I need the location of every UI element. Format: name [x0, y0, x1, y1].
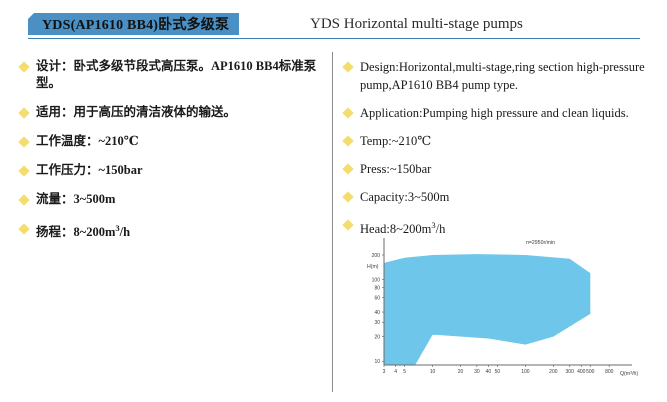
list-item-label: 流量：3~500m: [36, 191, 325, 208]
x-tick-label: 50: [495, 369, 501, 375]
x-tick-label: 3: [383, 369, 386, 375]
y-tick-label: 200: [372, 253, 381, 259]
list-item: 扬程：8~200m3/h: [20, 220, 325, 241]
diamond-bullet-icon: [342, 135, 353, 146]
list-item-label: Design:Horizontal,multi-stage,ring secti…: [360, 58, 654, 94]
diamond-bullet-icon: [18, 61, 29, 72]
list-item-label: 扬程：8~200m3/h: [36, 220, 325, 241]
list-item-label: Application:Pumping high pressure and cl…: [360, 104, 654, 122]
page-header: YDS(AP1610 BB4)卧式多级泵 YDS Horizontal mult…: [0, 0, 667, 46]
x-tick-label: 800: [605, 369, 614, 375]
list-item-label: Capacity:3~500m: [360, 188, 654, 206]
x-tick-label: 400: [577, 369, 586, 375]
diamond-bullet-icon: [342, 191, 353, 202]
x-tick-label: 200: [549, 369, 558, 375]
x-tick-label: 5: [403, 369, 406, 375]
specs-list-chinese: 设计：卧式多级节段式高压泵。AP1610 BB4标准泵型。 适用：用于高压的清洁…: [20, 58, 325, 253]
pump-performance-chart: 3451020304050100200300400500800 10203040…: [358, 232, 658, 392]
diamond-bullet-icon: [18, 107, 29, 118]
header-divider-rule: [28, 38, 640, 39]
x-tick-label: 40: [486, 369, 492, 375]
diamond-bullet-icon: [18, 223, 29, 234]
list-item-label: 工作温度：~210℃: [36, 133, 325, 150]
list-item: Capacity:3~500m: [344, 188, 654, 206]
diamond-bullet-icon: [342, 107, 353, 118]
diamond-bullet-icon: [18, 165, 29, 176]
y-tick-label: 10: [374, 359, 380, 365]
diamond-bullet-icon: [342, 61, 353, 72]
chart-y-axis-label: H(m): [367, 264, 379, 270]
chart-x-axis-label: Q(m3/h): [620, 370, 638, 377]
x-tick-label: 4: [394, 369, 397, 375]
chart-plot-area: [384, 254, 590, 365]
list-item: Design:Horizontal,multi-stage,ring secti…: [344, 58, 654, 94]
list-item: Temp:~210℃: [344, 132, 654, 150]
list-item-label: 工作压力：~150bar: [36, 162, 325, 179]
column-divider: [332, 52, 333, 392]
x-tick-label: 100: [521, 369, 530, 375]
banner-title-zh: YDS(AP1610 BB4)卧式多级泵: [42, 14, 229, 34]
x-tick-label: 20: [458, 369, 464, 375]
list-item: Application:Pumping high pressure and cl…: [344, 104, 654, 122]
y-tick-label: 30: [374, 320, 380, 326]
y-tick-label: 60: [374, 295, 380, 301]
operating-envelope-area: [384, 254, 590, 365]
x-tick-label: 500: [586, 369, 595, 375]
diamond-bullet-icon: [18, 136, 29, 147]
list-item-label: Press:~150bar: [360, 160, 654, 178]
chart-canvas: 3451020304050100200300400500800 10203040…: [358, 232, 658, 392]
diamond-bullet-icon: [18, 194, 29, 205]
list-item: Press:~150bar: [344, 160, 654, 178]
diamond-bullet-icon: [342, 163, 353, 174]
chart-x-tick-labels: 3451020304050100200300400500800: [383, 365, 614, 375]
chart-annotation-label: n=2950r/min: [526, 240, 555, 246]
y-tick-label: 100: [372, 277, 381, 283]
y-tick-label: 80: [374, 285, 380, 291]
list-item: 设计：卧式多级节段式高压泵。AP1610 BB4标准泵型。: [20, 58, 325, 92]
list-item-label: 适用：用于高压的清洁液体的输送。: [36, 104, 325, 121]
list-item-label: Temp:~210℃: [360, 132, 654, 150]
y-tick-label: 40: [374, 310, 380, 316]
title-banner: YDS(AP1610 BB4)卧式多级泵: [28, 13, 239, 35]
list-item: 工作温度：~210℃: [20, 133, 325, 150]
diamond-bullet-icon: [342, 219, 353, 230]
x-tick-label: 10: [430, 369, 436, 375]
list-item: 流量：3~500m: [20, 191, 325, 208]
x-tick-label: 30: [474, 369, 480, 375]
list-item-label: 设计：卧式多级节段式高压泵。AP1610 BB4标准泵型。: [36, 58, 325, 92]
list-item: 工作压力：~150bar: [20, 162, 325, 179]
x-tick-label: 300: [566, 369, 575, 375]
y-tick-label: 20: [374, 334, 380, 340]
page-title-en: YDS Horizontal multi-stage pumps: [310, 13, 523, 35]
list-item: 适用：用于高压的清洁液体的输送。: [20, 104, 325, 121]
specs-list-english: Design:Horizontal,multi-stage,ring secti…: [344, 58, 654, 248]
